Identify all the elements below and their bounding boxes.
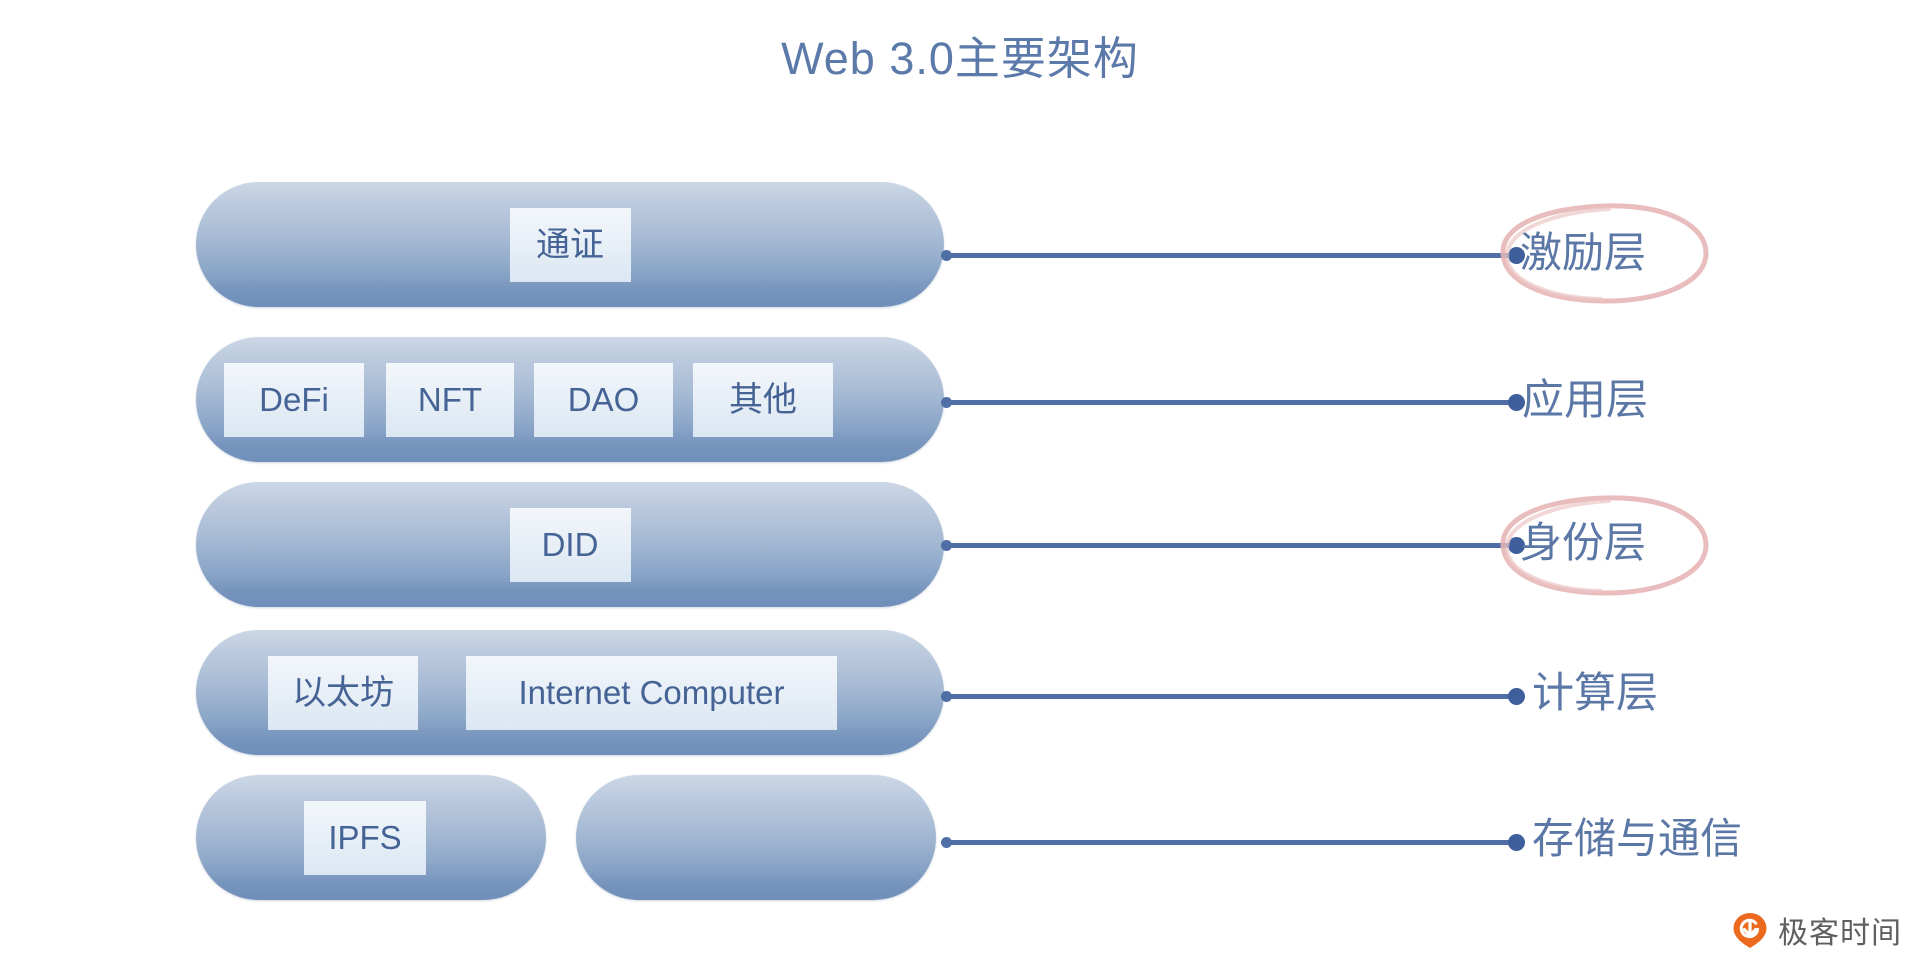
- layer-pill-storage-left[interactable]: IPFS: [196, 775, 546, 900]
- layer-row-incentive: 通证: [196, 182, 944, 307]
- geektime-logo-icon: [1731, 911, 1769, 949]
- connector-incentive: [944, 253, 1518, 258]
- layer-row-storage: IPFS: [196, 775, 944, 900]
- layer-row-application: DeFi NFT DAO 其他: [196, 337, 944, 462]
- layer-pill-application[interactable]: DeFi NFT DAO 其他: [196, 337, 944, 462]
- connector-storage: [944, 840, 1518, 845]
- layer-pill-identity[interactable]: DID: [196, 482, 944, 607]
- architecture-diagram: 通证 激励层 DeFi NFT DAO 其他 应用层 DID 身份层: [0, 0, 1920, 960]
- layer-label-application: 应用层: [1522, 379, 1648, 421]
- chip-did[interactable]: DID: [510, 508, 631, 582]
- layer-pill-incentive[interactable]: 通证: [196, 182, 944, 307]
- connector-application: [944, 400, 1518, 405]
- layer-label-identity: 身份层: [1520, 522, 1646, 564]
- layer-pill-compute[interactable]: 以太坊 Internet Computer: [196, 630, 944, 755]
- connector-identity: [944, 543, 1518, 548]
- chip-token[interactable]: 通证: [510, 208, 631, 282]
- chip-ipfs[interactable]: IPFS: [304, 801, 426, 875]
- layer-label-compute: 计算层: [1532, 672, 1658, 714]
- chip-ethereum[interactable]: 以太坊: [268, 656, 418, 730]
- chip-nft[interactable]: NFT: [386, 363, 514, 437]
- layer-pill-storage-right[interactable]: [576, 775, 936, 900]
- watermark: 极客时间: [1731, 908, 1902, 952]
- layer-label-storage: 存储与通信: [1532, 818, 1742, 860]
- chip-other[interactable]: 其他: [693, 363, 833, 437]
- chip-dao[interactable]: DAO: [534, 363, 673, 437]
- chip-defi[interactable]: DeFi: [224, 363, 364, 437]
- layer-row-compute: 以太坊 Internet Computer: [196, 630, 944, 755]
- connector-compute: [944, 694, 1518, 699]
- layer-label-incentive: 激励层: [1520, 232, 1646, 274]
- layer-row-identity: DID: [196, 482, 944, 607]
- chip-internet-computer[interactable]: Internet Computer: [466, 656, 837, 730]
- watermark-text: 极客时间: [1778, 908, 1902, 952]
